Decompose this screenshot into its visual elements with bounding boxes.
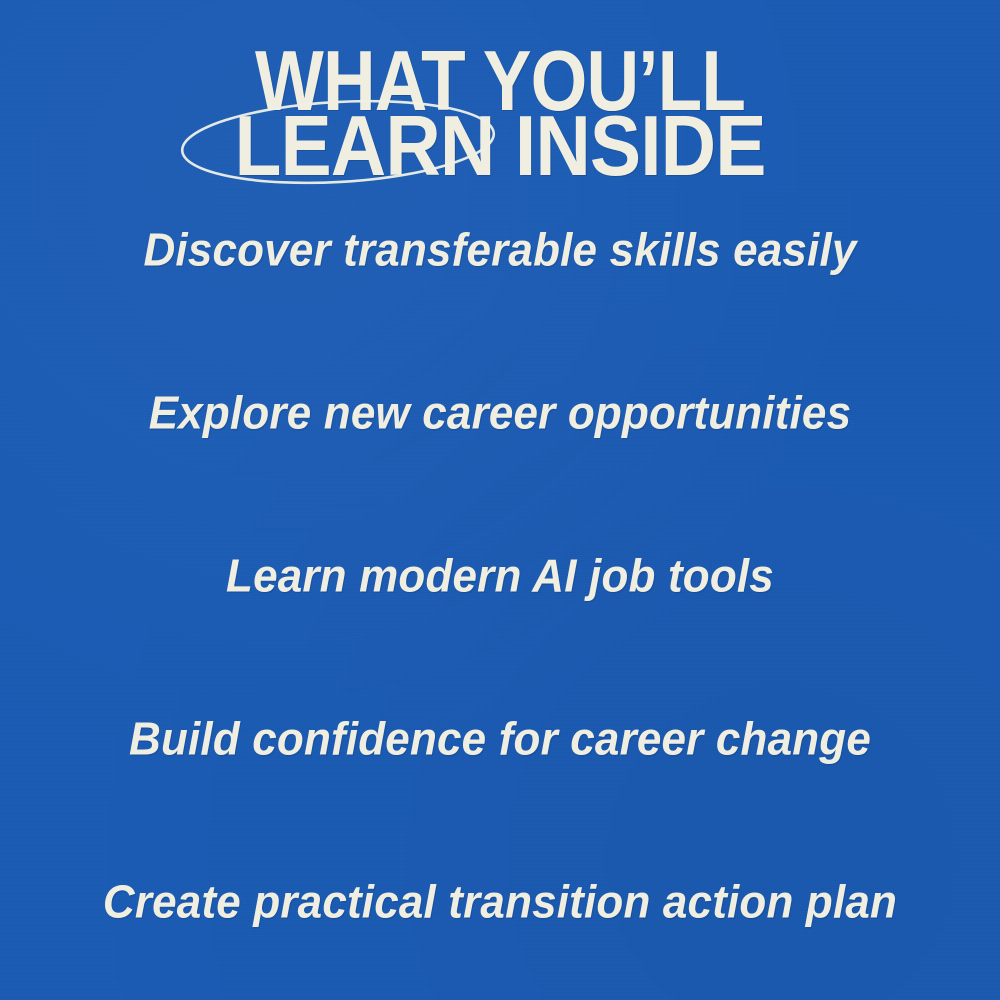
benefit-item-2: Explore new career opportunities <box>24 390 976 438</box>
benefit-item-3: Learn modern AI job tools <box>24 553 976 601</box>
benefit-item-5: Create practical transition action plan <box>24 879 976 927</box>
headline-line-2: LEARN INSIDE <box>8 109 993 183</box>
headline: WHAT YOU’LL LEARN INSIDE <box>0 44 1000 176</box>
benefit-list: Discover transferable skills easily Expl… <box>0 210 1000 940</box>
benefit-item-4: Build confidence for career change <box>24 716 976 764</box>
benefit-item-1: Discover transferable skills easily <box>24 227 976 275</box>
